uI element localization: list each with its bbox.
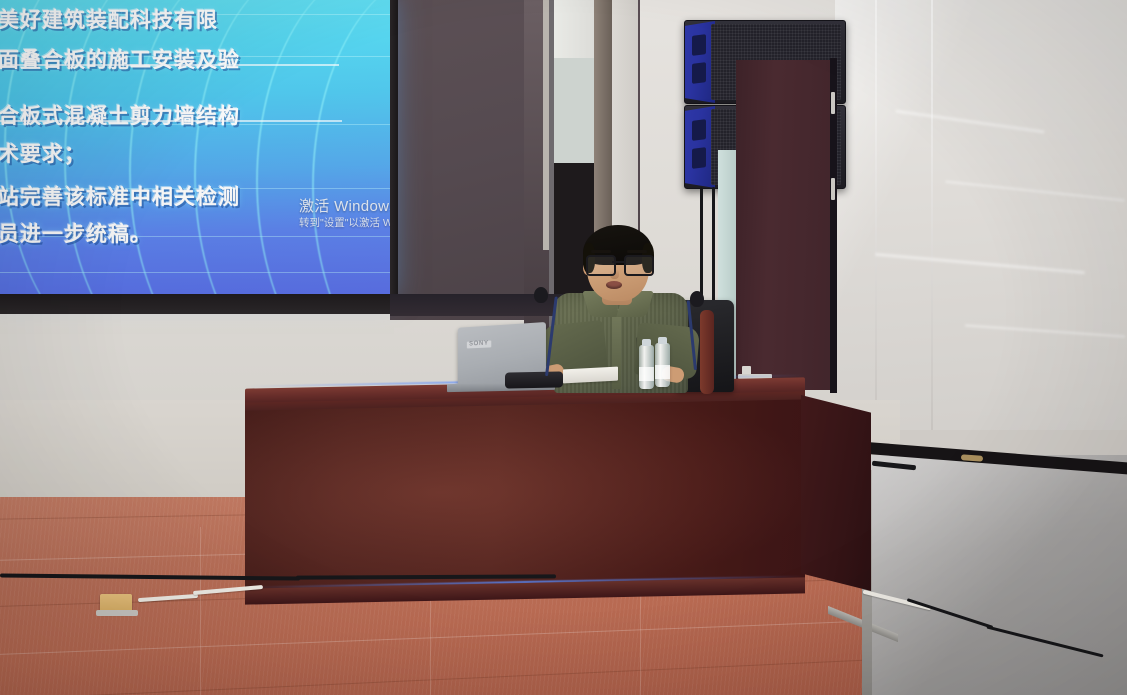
wall-light-panel-lit <box>554 58 594 163</box>
presentation-podium <box>245 383 865 643</box>
podium-side-panel <box>801 395 871 591</box>
door-hinge <box>831 178 835 200</box>
presenter <box>540 225 700 390</box>
screen-right-frame <box>390 0 398 314</box>
conference-room-scene: ；美好建筑装配科技有限 双面叠合板的施工安装及验 叠合板式混凝土剪力墙结构 技术… <box>0 0 1127 695</box>
microphone-base <box>505 371 563 388</box>
side-polished-floor <box>862 455 1127 695</box>
door-hinge <box>831 92 835 114</box>
room-door[interactable] <box>736 60 836 390</box>
microphone-head <box>534 287 548 303</box>
slide-line-5: 测站完善该标准中相关检测 <box>0 177 240 218</box>
slide-underline <box>0 64 339 66</box>
screen-bottom-frame <box>0 294 398 314</box>
microphone-head-second <box>690 291 704 307</box>
marble-wall-panel <box>835 0 1127 430</box>
presenter-glasses <box>586 255 650 272</box>
podium-front-panel <box>245 399 805 600</box>
floor-cable-box-base <box>96 610 138 616</box>
slide-line-3: 叠合板式混凝土剪力墙结构 <box>0 96 240 137</box>
slide-line-1: ；美好建筑装配科技有限 <box>0 0 218 41</box>
documents-on-desk <box>563 367 618 384</box>
watermark-subtitle: 转到"设置"以激活 Windows。 <box>299 216 394 231</box>
water-bottle <box>655 343 670 387</box>
slide-underline <box>0 120 342 122</box>
slide-line-2: 双面叠合板的施工安装及验 <box>0 40 240 81</box>
slide-line-6: 人员进一步统稿。 <box>0 214 152 255</box>
water-bottle <box>639 345 654 389</box>
windows-activation-watermark: 激活 Windows 转到"设置"以激活 Windows。 <box>299 197 394 231</box>
laptop-brand-logo: SONY <box>467 340 491 348</box>
slide-line-4: 技术要求； <box>0 134 86 175</box>
watermark-title: 激活 Windows <box>299 197 394 216</box>
projection-screen: ；美好建筑装配科技有限 双面叠合板的施工安装及验 叠合板式混凝土剪力墙结构 技术… <box>0 0 394 296</box>
executive-chair-armrest <box>700 310 714 394</box>
